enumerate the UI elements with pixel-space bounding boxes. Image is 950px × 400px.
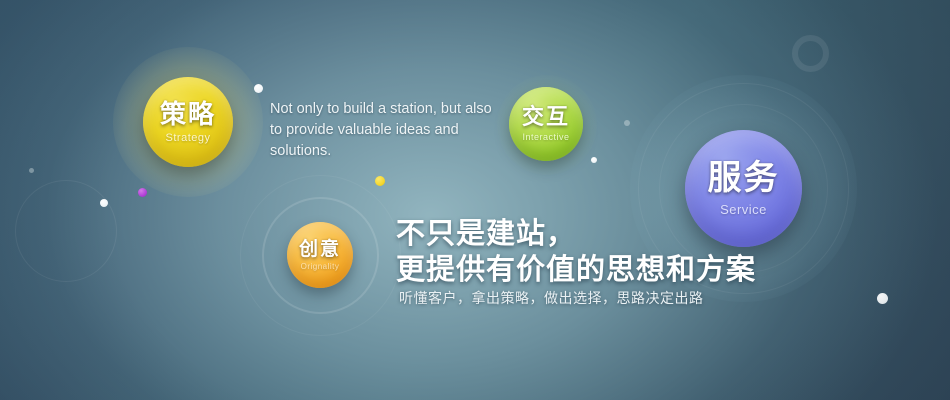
subheadline: 听懂客户，拿出策略，做出选择，思路决定出路 [399,288,704,308]
bubble-strategy[interactable]: 策略 Strategy [143,77,233,167]
bubble-interactive-title-en: Interactive [522,133,569,142]
bubble-interactive[interactable]: 交互 Interactive [509,87,583,161]
bubble-strategy-title-en: Strategy [166,133,211,144]
dot-white-bottom [877,293,888,304]
headline: 不只是建站， 更提供有价值的思想和方案 [396,216,756,288]
dot-purple-left [138,188,147,197]
tagline-english-line2: to provide valuable ideas and solutions. [270,120,510,162]
decorative-ring-left [15,180,117,282]
headline-line1: 不只是建站， [396,216,756,252]
dot-white-left [100,199,108,207]
bubble-originality-title-en: Orignality [301,263,340,271]
dot-gray-right [624,120,630,126]
tagline-english: Not only to build a station, but also to… [270,99,510,162]
hero-banner: 策略 Strategy 交互 Interactive 创意 Orignality… [0,0,950,400]
bubble-originality-title-cn: 创意 [299,240,341,259]
bubble-interactive-title-cn: 交互 [522,106,570,128]
dot-white-top [254,84,263,93]
headline-line2: 更提供有价值的思想和方案 [396,252,756,288]
dot-gray-left [29,168,34,173]
bubble-service-title-cn: 服务 [708,161,780,195]
tagline-english-line1: Not only to build a station, but also [270,99,510,120]
dot-white-green [591,157,597,163]
bubble-service-title-en: Service [720,203,767,216]
bubble-strategy-title-cn: 策略 [160,101,216,127]
decorative-ring-top-right [792,35,829,72]
dot-yellow-mid [375,176,385,186]
bubble-originality[interactable]: 创意 Orignality [287,222,353,288]
